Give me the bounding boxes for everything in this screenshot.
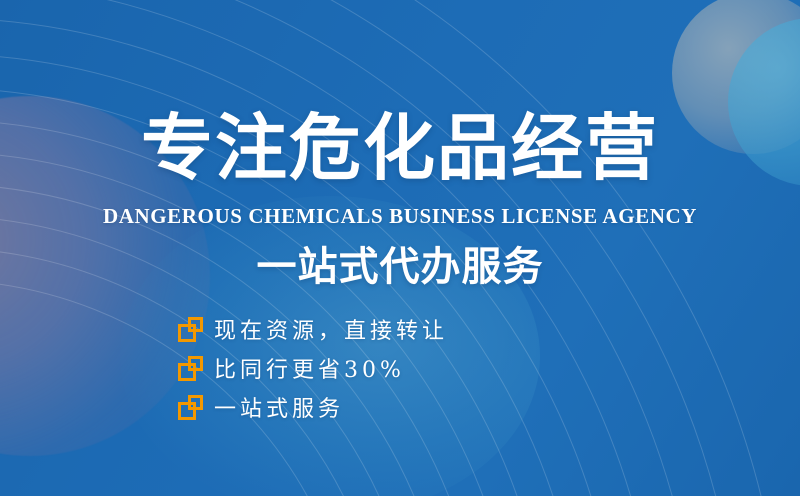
- list-item-label: 比同行更省30%: [214, 352, 405, 384]
- overlapping-squares-icon: [178, 395, 203, 420]
- headline-subtitle-english: Dangerous Chemicals Business License Age…: [0, 204, 800, 229]
- banner-content: 专注危化品经营 Dangerous Chemicals Business Lic…: [0, 0, 800, 496]
- list-item-label: 现在资源，直接转让: [214, 313, 448, 345]
- service-subheadline: 一站式代办服务: [0, 244, 800, 290]
- headline-title: 专注危化品经营: [0, 112, 800, 184]
- feature-bullet-list: 现在资源，直接转让 比同行更省30% 一站式服务: [178, 314, 448, 422]
- list-item: 现在资源，直接转让: [178, 314, 448, 344]
- list-item-label: 一站式服务: [214, 391, 344, 423]
- list-item: 一站式服务: [178, 392, 448, 422]
- promo-banner: 专注危化品经营 Dangerous Chemicals Business Lic…: [0, 0, 800, 496]
- overlapping-squares-icon: [178, 317, 203, 342]
- overlapping-squares-icon: [178, 356, 203, 381]
- list-item: 比同行更省30%: [178, 353, 448, 383]
